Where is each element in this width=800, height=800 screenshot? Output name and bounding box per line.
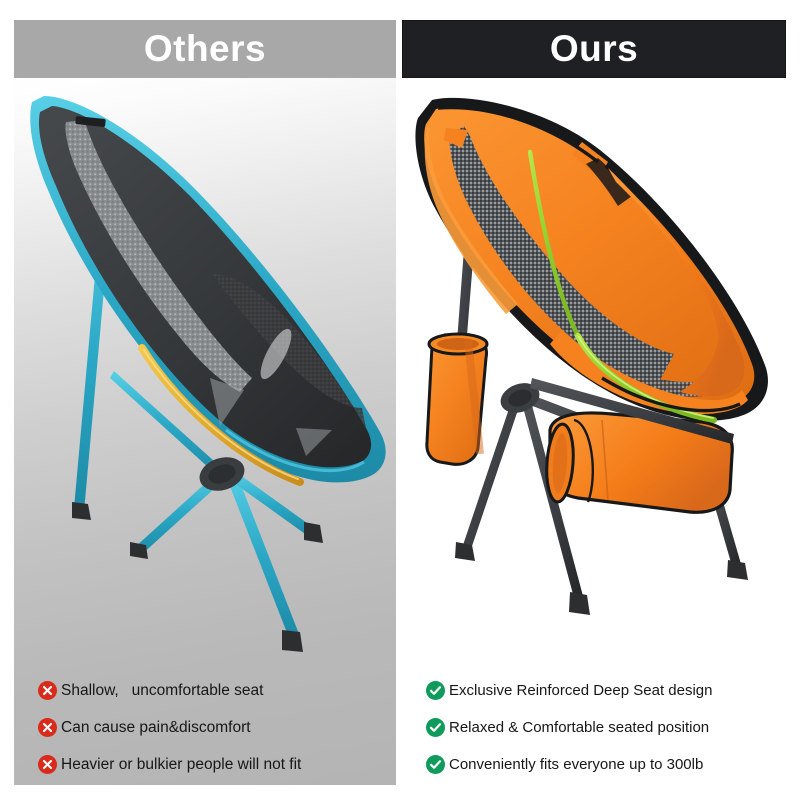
bullet-list-others: Shallow, uncomfortable seat Can cause pa… [0, 672, 400, 783]
list-item-label: Relaxed & Comfortable seated position [449, 719, 709, 736]
list-item: Can cause pain&discomfort [38, 709, 400, 746]
comparison-panel-others: Others Shallow, uncomfortable seat Can [0, 0, 400, 800]
x-circle-icon [38, 718, 57, 737]
x-circle-icon [38, 755, 57, 774]
list-item-label: Exclusive Reinforced Deep Seat design [449, 682, 712, 699]
list-item-label: Heavier or bulkier people will not fit [61, 756, 301, 774]
list-item: Shallow, uncomfortable seat [38, 672, 400, 709]
list-item: Conveniently fits everyone up to 300lb [426, 746, 800, 783]
list-item: Heavier or bulkier people will not fit [38, 746, 400, 783]
x-circle-icon [38, 681, 57, 700]
panel-header-label-ours: Ours [550, 28, 638, 70]
list-item-label: Can cause pain&discomfort [61, 719, 251, 737]
check-circle-icon [426, 718, 445, 737]
bullet-list-ours: Exclusive Reinforced Deep Seat design Re… [400, 672, 800, 783]
list-item: Exclusive Reinforced Deep Seat design [426, 672, 800, 709]
comparison-panel-ours: Ours Exclusive Reinforced Deep Seat desi… [400, 0, 800, 800]
check-circle-icon [426, 681, 445, 700]
check-circle-icon [426, 755, 445, 774]
panel-header-ours: Ours [402, 20, 786, 78]
chair-illustration-ours [402, 78, 786, 672]
comparison-infographic: Others Shallow, uncomfortable seat Can [0, 0, 800, 800]
panel-header-others: Others [14, 20, 396, 78]
product-image-others [14, 78, 396, 672]
chair-illustration-others [14, 78, 396, 672]
list-item: Relaxed & Comfortable seated position [426, 709, 800, 746]
cup-holder-ours [427, 334, 487, 464]
list-item-label: Shallow, uncomfortable seat [61, 682, 263, 700]
list-item-label: Conveniently fits everyone up to 300lb [449, 756, 703, 773]
panel-header-label-others: Others [144, 28, 266, 70]
product-image-ours [402, 78, 786, 672]
